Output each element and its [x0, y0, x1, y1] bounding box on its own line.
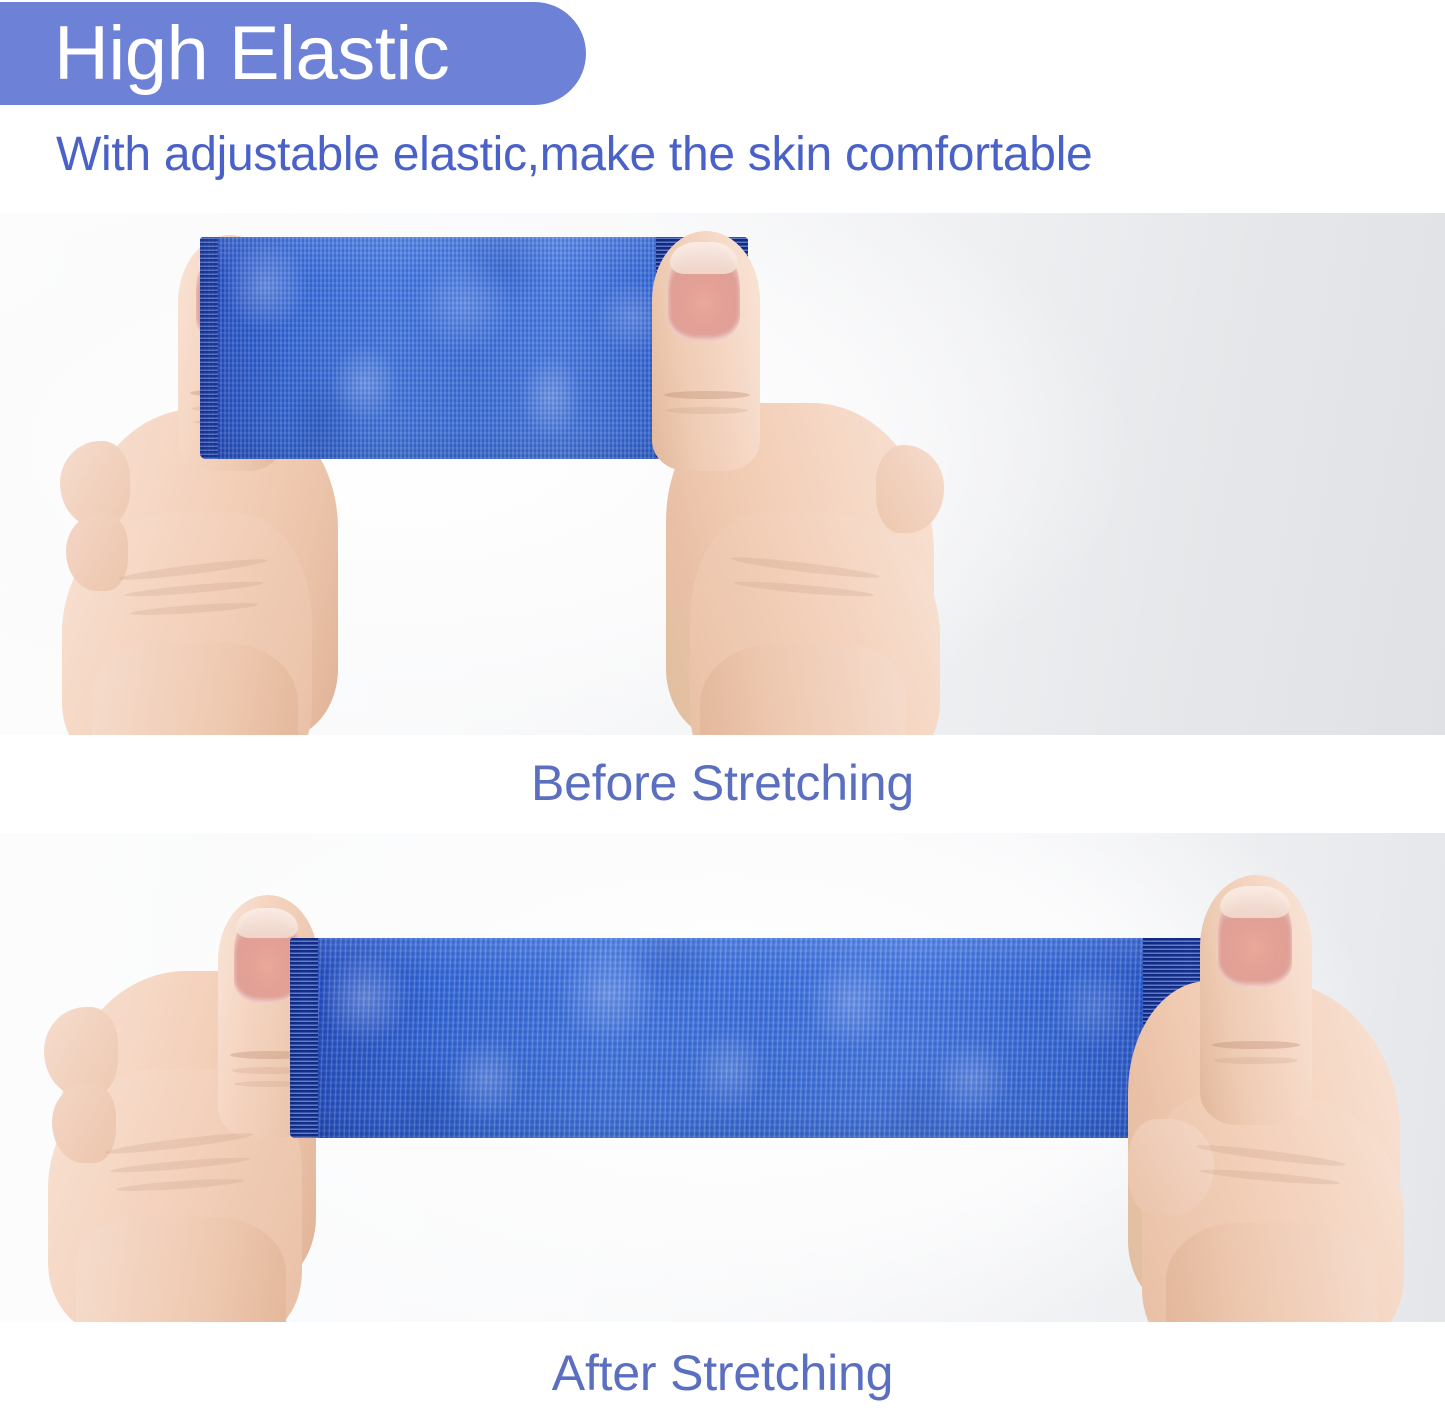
header-badge-label: High Elastic: [0, 16, 449, 92]
photo-before-stretching: [0, 213, 1445, 735]
bandage-stretched: [290, 938, 1225, 1138]
right-wrist: [700, 645, 906, 735]
product-feature-image: High Elastic With adjustable elastic,mak…: [0, 0, 1445, 1413]
header-subtitle: With adjustable elastic,make the skin co…: [56, 126, 1092, 184]
right-knuckle-lower: [1128, 1119, 1214, 1215]
thumb-crease: [666, 407, 748, 414]
bandage-shading: [290, 938, 1225, 1138]
right-thumbnail-tip: [1220, 886, 1290, 918]
caption-before-stretching: Before Stretching: [0, 758, 1445, 808]
thumb-crease: [1214, 1057, 1298, 1064]
thumb-crease: [1212, 1041, 1300, 1049]
left-wrist: [76, 1217, 286, 1322]
header-badge: High Elastic: [0, 2, 586, 105]
right-thumbnail-tip: [670, 242, 738, 274]
caption-after-stretching: After Stretching: [0, 1348, 1445, 1398]
photo-after-stretching: [0, 833, 1445, 1322]
bandage-rib-edge: [200, 237, 218, 459]
right-wrist: [1166, 1223, 1378, 1322]
left-wrist: [92, 643, 298, 735]
thumb-crease: [664, 391, 750, 399]
left-index-nail-tip: [236, 908, 298, 938]
bandage-rib-edge: [290, 938, 318, 1138]
